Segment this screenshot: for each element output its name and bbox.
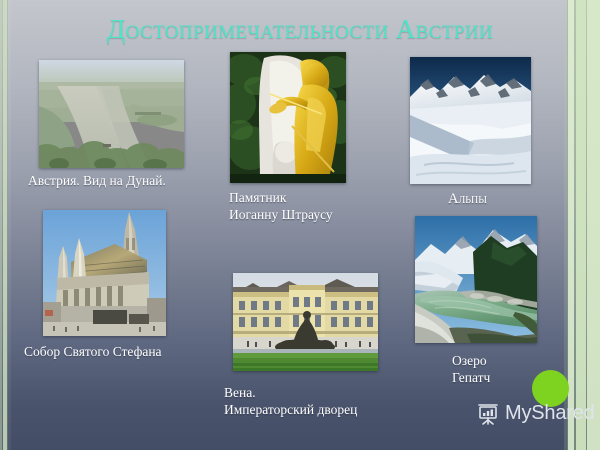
slide-border-right xyxy=(564,0,600,450)
photo-strauss-monument xyxy=(230,52,346,183)
myshared-watermark[interactable]: MyShared xyxy=(476,402,595,426)
slide-border-left xyxy=(0,0,11,450)
watermark-label: MyShared xyxy=(505,402,595,425)
photo-danube-aerial xyxy=(39,60,184,168)
caption-alps: Альпы xyxy=(448,191,538,208)
presentation-chart-icon xyxy=(476,402,500,426)
presentation-slide: Достопримечательности Австрии xyxy=(0,0,600,450)
photo-alps xyxy=(410,57,531,184)
caption-strauss: Памятник Иоганну Штраусу xyxy=(229,190,389,223)
slide-title: Достопримечательности Австрии xyxy=(0,14,600,45)
caption-danube: Австрия. Вид на Дунай. xyxy=(28,173,243,190)
photo-schonbrunn-palace xyxy=(233,273,378,371)
caption-cathedral: Собор Святого Стефана xyxy=(24,344,234,361)
photo-st-stephens-cathedral xyxy=(43,210,166,336)
photo-lake-gepatsch xyxy=(415,216,537,343)
caption-lake: Озеро Гепатч xyxy=(452,353,542,386)
caption-vienna: Вена. Императорский дворец xyxy=(224,385,414,418)
